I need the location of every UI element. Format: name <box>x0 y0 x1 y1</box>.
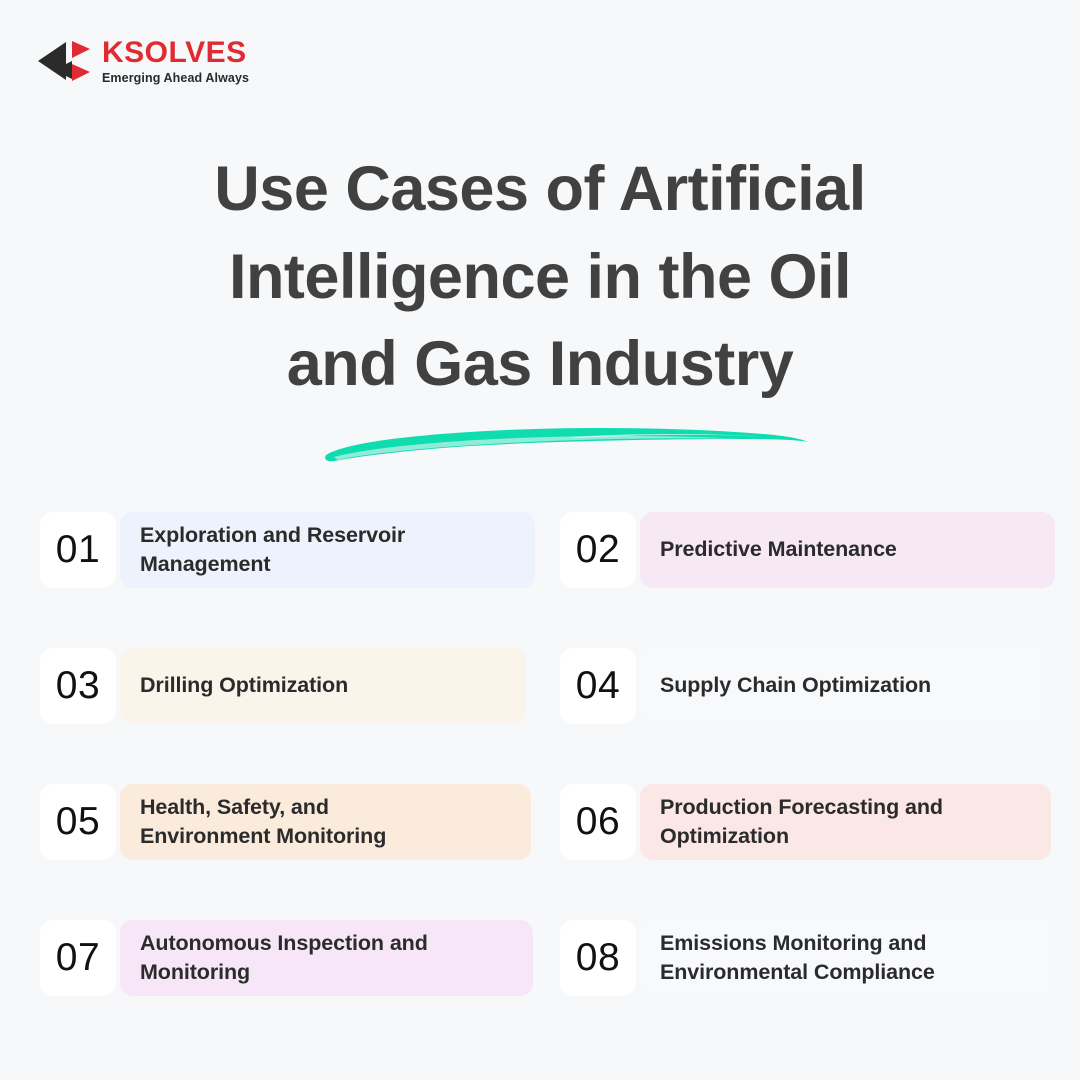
item-number-badge: 01 <box>40 512 116 588</box>
item-label-line-1: Predictive Maintenance <box>660 535 897 564</box>
brand-logo: KSOLVES Emerging Ahead Always <box>36 38 249 85</box>
page-title-line-2: Intelligence in the Oil <box>90 234 990 322</box>
item-label-line-2: Optimization <box>660 822 943 851</box>
list-item[interactable]: 07 Autonomous Inspection and Monitoring <box>40 920 536 996</box>
list-item[interactable]: 02 Predictive Maintenance <box>560 512 1056 588</box>
item-label-line-1: Autonomous Inspection and <box>140 929 428 958</box>
item-number-badge: 06 <box>560 784 636 860</box>
page-title: Use Cases of Artificial Intelligence in … <box>90 146 990 409</box>
use-cases-grid: 01 Exploration and Reservoir Management … <box>40 512 1055 996</box>
item-label-card[interactable]: Predictive Maintenance <box>640 512 1055 588</box>
list-item[interactable]: 06 Production Forecasting and Optimizati… <box>560 784 1056 860</box>
item-number-badge: 04 <box>560 648 636 724</box>
item-label-card[interactable]: Production Forecasting and Optimization <box>640 784 1051 860</box>
item-number-badge: 08 <box>560 920 636 996</box>
item-label-line-2: Environmental Compliance <box>660 958 935 987</box>
item-label-line-2: Management <box>140 550 405 579</box>
item-label-card[interactable]: Drilling Optimization <box>120 648 526 724</box>
item-number-badge: 03 <box>40 648 116 724</box>
brush-stroke-underline-icon <box>320 415 810 471</box>
item-label-line-1: Production Forecasting and <box>660 793 943 822</box>
list-item[interactable]: 08 Emissions Monitoring and Environmenta… <box>560 920 1056 996</box>
item-label-card[interactable]: Autonomous Inspection and Monitoring <box>120 920 533 996</box>
item-label-line-1: Emissions Monitoring and <box>660 929 935 958</box>
brand-tagline: Emerging Ahead Always <box>102 72 249 85</box>
item-label-line-1: Drilling Optimization <box>140 671 348 700</box>
page-title-line-1: Use Cases of Artificial <box>90 146 990 234</box>
item-label-card[interactable]: Supply Chain Optimization <box>640 648 1046 724</box>
item-number-badge: 07 <box>40 920 116 996</box>
list-item[interactable]: 03 Drilling Optimization <box>40 648 536 724</box>
item-number-badge: 02 <box>560 512 636 588</box>
item-number-badge: 05 <box>40 784 116 860</box>
list-item[interactable]: 05 Health, Safety, and Environment Monit… <box>40 784 536 860</box>
item-label-line-1: Supply Chain Optimization <box>660 671 931 700</box>
item-label-line-1: Exploration and Reservoir <box>140 521 405 550</box>
brand-wordmark: KSOLVES Emerging Ahead Always <box>102 38 249 85</box>
list-item[interactable]: 01 Exploration and Reservoir Management <box>40 512 536 588</box>
item-label-card[interactable]: Emissions Monitoring and Environmental C… <box>640 920 1053 996</box>
item-label-card[interactable]: Health, Safety, and Environment Monitori… <box>120 784 531 860</box>
item-label-line-1: Health, Safety, and <box>140 793 386 822</box>
list-item[interactable]: 04 Supply Chain Optimization <box>560 648 1056 724</box>
item-label-card[interactable]: Exploration and Reservoir Management <box>120 512 535 588</box>
brand-name: KSOLVES <box>102 38 249 68</box>
item-label-line-2: Environment Monitoring <box>140 822 386 851</box>
infographic-page: KSOLVES Emerging Ahead Always Use Cases … <box>0 0 1080 1080</box>
item-label-line-2: Monitoring <box>140 958 428 987</box>
page-title-line-3: and Gas Industry <box>90 321 990 409</box>
ksolves-triangles-logo-icon <box>36 38 92 84</box>
